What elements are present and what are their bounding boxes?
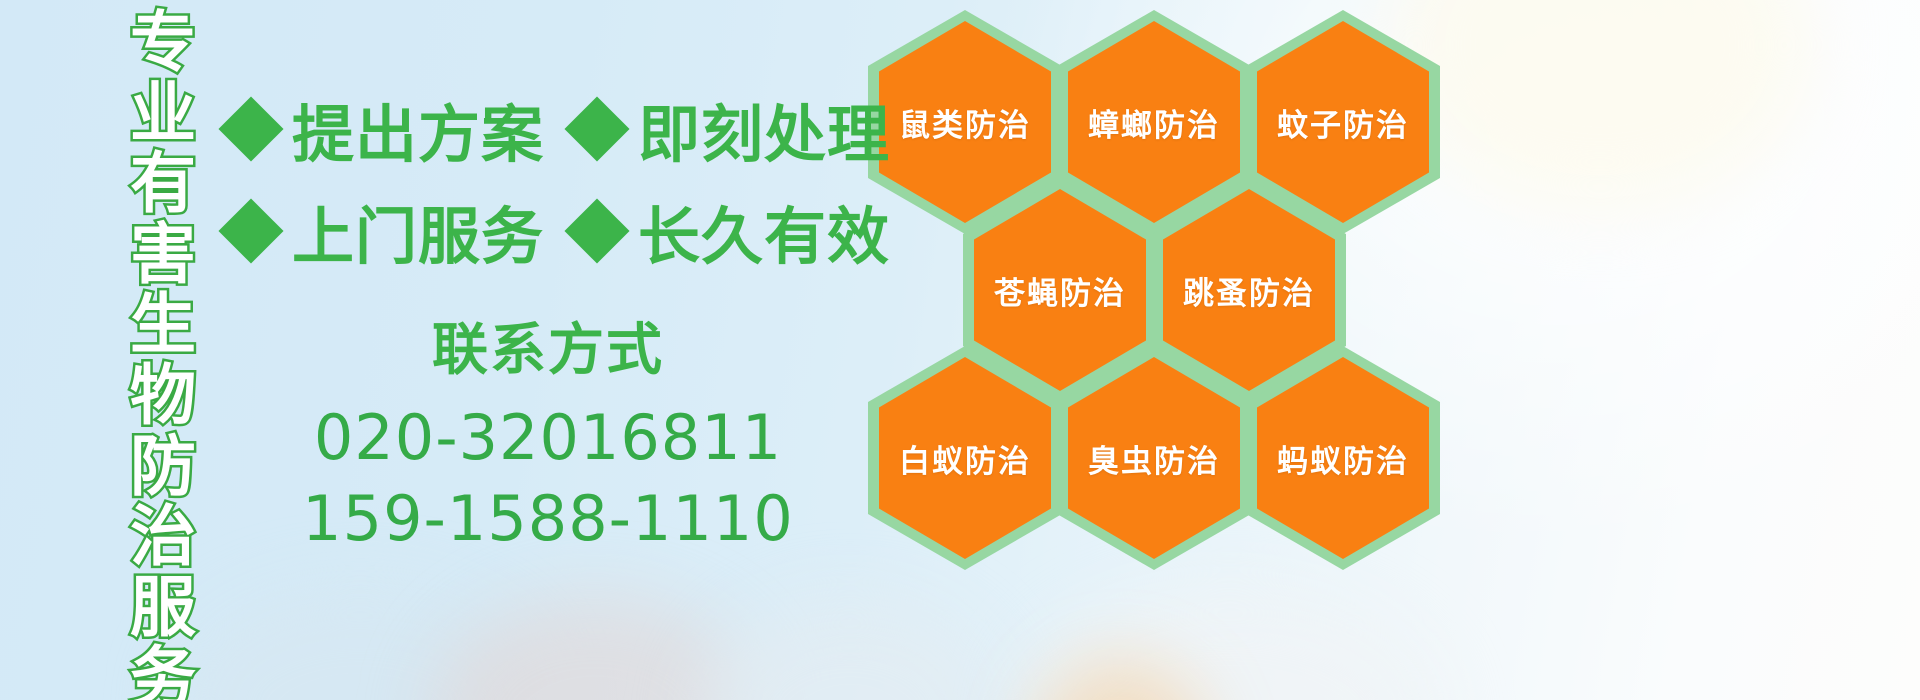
contact-title: 联系方式 xyxy=(238,318,858,384)
background-blob xyxy=(1020,590,1440,700)
feature-item-immediate-handling: 即刻处理 xyxy=(574,84,890,174)
contact-block: 联系方式 020-32016811 159-1588-1110 xyxy=(238,318,858,559)
feature-item-onsite-service: 上门服务 xyxy=(228,186,544,276)
feature-list: 提出方案 即刻处理 上门服务 长久有效 xyxy=(228,78,868,282)
feature-row: 提出方案 即刻处理 xyxy=(228,78,868,180)
service-label: 蚊子防治 xyxy=(1277,100,1409,145)
vertical-headline-char: 专 xyxy=(130,8,196,79)
diamond-bullet-icon xyxy=(218,198,283,263)
vertical-headline-char: 有 xyxy=(130,149,196,220)
service-label: 蟑螂防治 xyxy=(1088,100,1220,145)
service-label: 白蚁防治 xyxy=(899,436,1031,481)
service-label: 臭虫防治 xyxy=(1088,436,1220,481)
background-blob xyxy=(180,590,540,700)
feature-label: 提出方案 xyxy=(292,84,544,174)
service-label: 跳蚤防治 xyxy=(1183,268,1315,313)
vertical-headline-char: 生 xyxy=(130,290,196,361)
background-blob xyxy=(1030,660,1210,700)
vertical-headline-char: 治 xyxy=(130,502,196,573)
vertical-headline-char: 防 xyxy=(130,432,196,503)
feature-label: 长久有效 xyxy=(638,186,890,276)
vertical-headline-char: 务 xyxy=(130,643,196,700)
service-label: 苍蝇防治 xyxy=(994,268,1126,313)
diamond-bullet-icon xyxy=(564,96,629,161)
background-blob xyxy=(430,595,760,700)
diamond-bullet-icon xyxy=(564,198,629,263)
service-honeycomb: 鼠类防治 蟑螂防治 蚊子防治 苍蝇防治 跳蚤防治 白蚁防治 xyxy=(860,0,1460,560)
vertical-headline-char: 业 xyxy=(130,79,196,150)
phone-mobile[interactable]: 159-1588-1110 xyxy=(238,479,858,560)
service-label: 鼠类防治 xyxy=(899,100,1031,145)
feature-item-long-lasting: 长久有效 xyxy=(574,186,890,276)
vertical-headline: 专 业 有 害 生 物 防 治 服 务 xyxy=(104,8,222,668)
service-label: 蚂蚁防治 xyxy=(1277,436,1409,481)
pest-control-banner: 专 业 有 害 生 物 防 治 服 务 提出方案 即刻处理 上门服务 xyxy=(0,0,1920,700)
background-blob xyxy=(700,600,1000,700)
vertical-headline-char: 物 xyxy=(130,361,196,432)
feature-item-propose-plan: 提出方案 xyxy=(228,84,544,174)
service-hex-ant[interactable]: 蚂蚁防治 xyxy=(1246,346,1440,570)
diamond-bullet-icon xyxy=(218,96,283,161)
feature-label: 上门服务 xyxy=(292,186,544,276)
service-hex-termite[interactable]: 白蚁防治 xyxy=(868,346,1062,570)
vertical-headline-char: 害 xyxy=(130,220,196,291)
phone-landline[interactable]: 020-32016811 xyxy=(238,398,858,479)
feature-row: 上门服务 长久有效 xyxy=(228,180,868,282)
service-hex-bedbug[interactable]: 臭虫防治 xyxy=(1057,346,1251,570)
feature-label: 即刻处理 xyxy=(638,84,890,174)
vertical-headline-char: 服 xyxy=(130,573,196,644)
